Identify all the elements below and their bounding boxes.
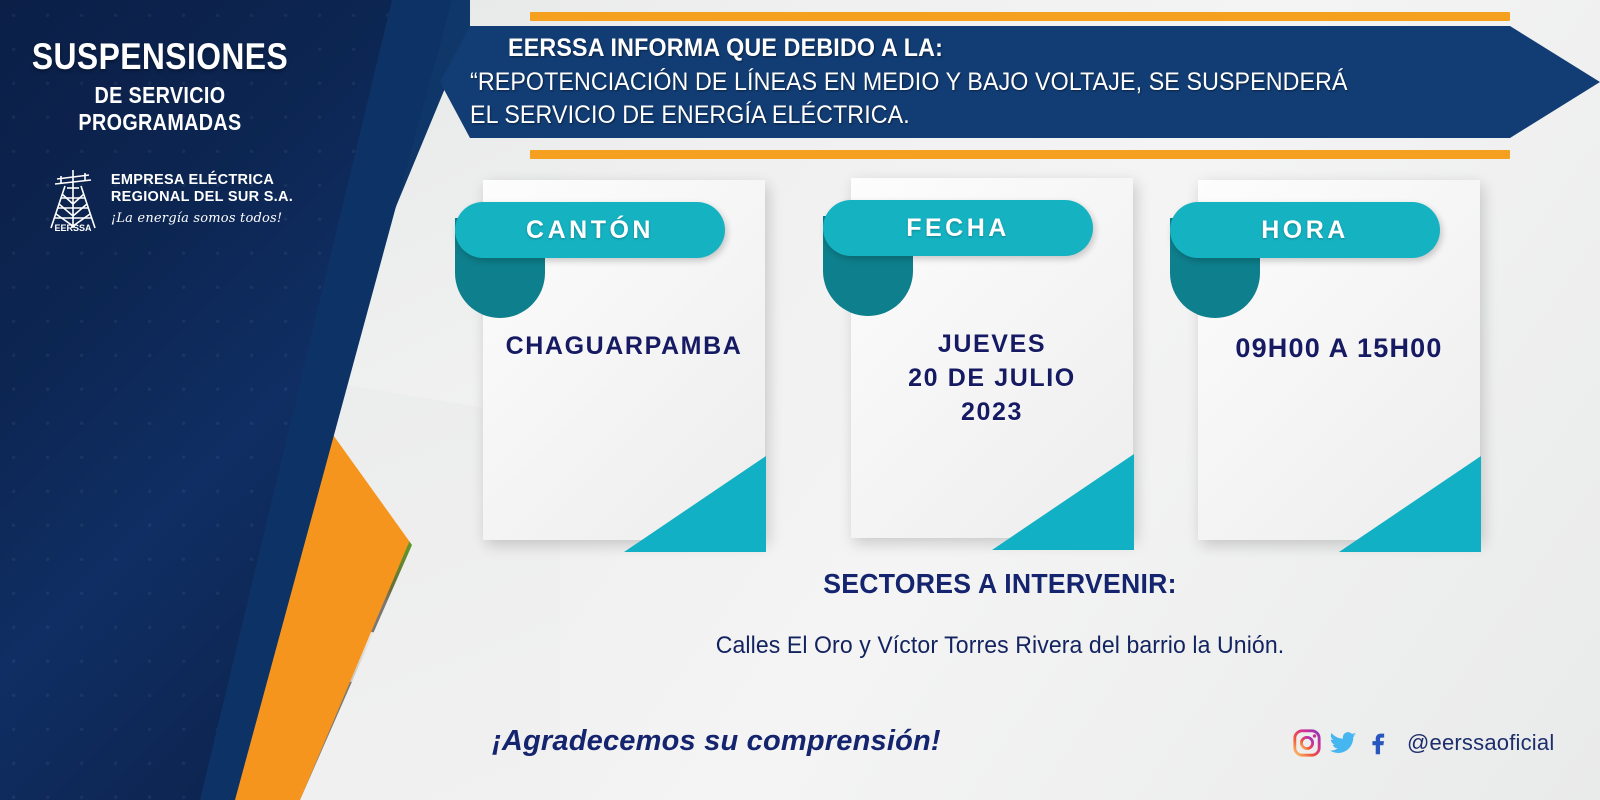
- sectors-title: SECTORES A INTERVENIR:: [497, 568, 1504, 600]
- card-label: CANTÓN: [526, 216, 654, 245]
- page-subtitle: DE SERVICIO PROGRAMADAS: [22, 82, 297, 136]
- twitter-icon[interactable]: [1328, 728, 1358, 758]
- card-value-hora: 09H00 A 15H00: [1168, 330, 1510, 366]
- info-card-hora: HORA 09H00 A 15H00: [1198, 180, 1480, 540]
- company-logo: EERSSA EMPRESA ELÉCTRICA REGIONAL DEL SU…: [0, 166, 320, 232]
- company-name-line1: EMPRESA ELÉCTRICA: [111, 172, 293, 189]
- banner-bottom-rule: [530, 150, 1510, 159]
- svg-text:EERSSA: EERSSA: [54, 223, 92, 232]
- poster-canvas: SUSPENSIONES DE SERVICIO PROGRAMADAS EE: [0, 0, 1600, 800]
- page-title: SUSPENSIONES: [22, 36, 297, 78]
- facebook-icon[interactable]: [1364, 728, 1394, 758]
- announcement-line-2: “REPOTENCIACIÓN DE LÍNEAS EN MEDIO Y BAJ…: [470, 68, 1456, 97]
- brand-block: SUSPENSIONES DE SERVICIO PROGRAMADAS EE: [0, 0, 320, 232]
- thanks-message: ¡Agradecemos su comprensión!: [492, 725, 941, 758]
- instagram-icon[interactable]: [1292, 728, 1322, 758]
- company-slogan: ¡La energía somos todos!: [111, 211, 293, 226]
- electric-tower-icon: EERSSA: [45, 166, 101, 232]
- company-name-line2: REGIONAL DEL SUR S.A.: [111, 189, 293, 206]
- card-tab-canton: CANTÓN: [455, 202, 725, 258]
- social-links: @eerssaoficial: [1292, 728, 1554, 758]
- banner-top-rule: [530, 12, 1510, 21]
- announcement-line-1: EERSSA INFORMA QUE DEBIDO A LA:: [508, 34, 1458, 63]
- info-card-fecha: FECHA JUEVES 20 DE JULIO 2023: [851, 178, 1133, 538]
- card-tab-hora: HORA: [1170, 202, 1440, 258]
- card-value-fecha: JUEVES 20 DE JULIO 2023: [843, 328, 1141, 429]
- card-value-canton: CHAGUARPAMBA: [475, 330, 773, 364]
- announcement-text: EERSSA INFORMA QUE DEBIDO A LA: “REPOTEN…: [470, 26, 1530, 138]
- info-card-canton: CANTÓN CHAGUARPAMBA: [483, 180, 765, 540]
- card-label: HORA: [1261, 216, 1349, 245]
- sectors-detail: Calles El Oro y Víctor Torres Rivera del…: [491, 632, 1509, 660]
- card-tab-fecha: FECHA: [823, 200, 1093, 256]
- social-handle: @eerssaoficial: [1407, 730, 1554, 756]
- announcement-line-3: EL SERVICIO DE ENERGÍA ELÉCTRICA.: [470, 101, 1456, 130]
- card-label: FECHA: [906, 214, 1010, 243]
